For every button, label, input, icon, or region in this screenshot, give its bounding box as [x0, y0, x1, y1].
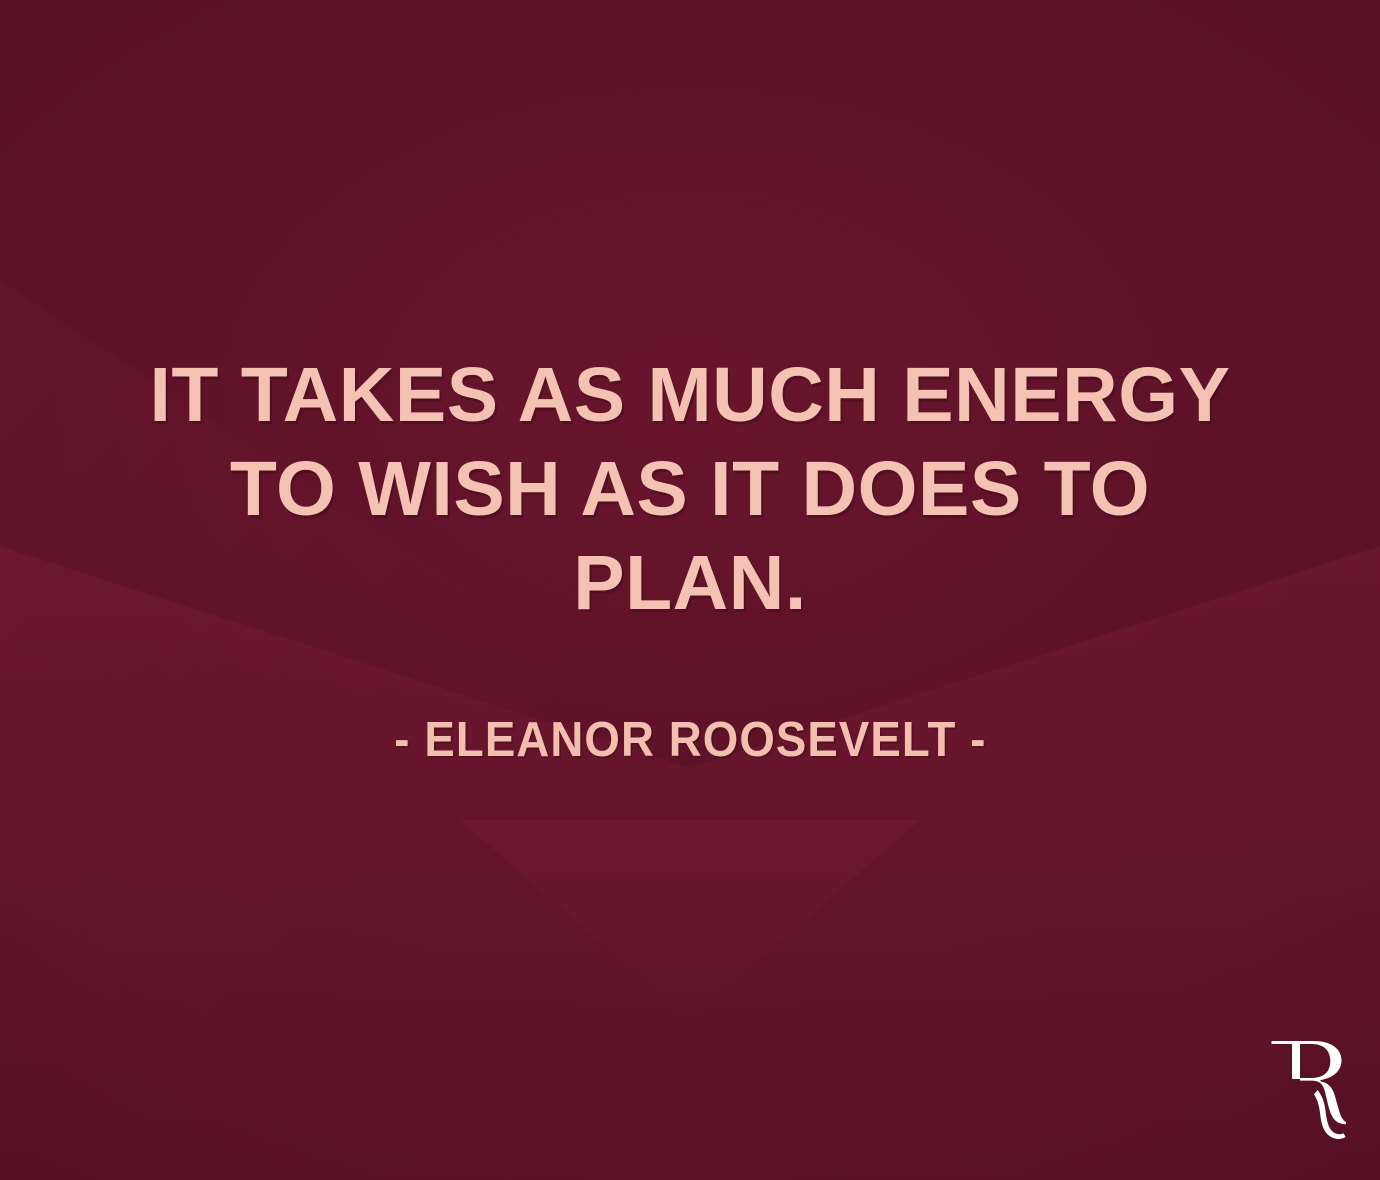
- quote-line-2: TO WISH AS IT DOES TO: [230, 446, 1150, 532]
- quote-line-3: PLAN.: [573, 540, 807, 626]
- quote-attribution: - ELEANOR ROOSEVELT -: [394, 712, 986, 768]
- quote-text: IT TAKES AS MUCH ENERGY TO WISH AS IT DO…: [70, 348, 1310, 630]
- card-content: IT TAKES AS MUCH ENERGY TO WISH AS IT DO…: [0, 0, 1380, 1180]
- quote-line-1: IT TAKES AS MUCH ENERGY: [149, 352, 1230, 438]
- quote-card: IT TAKES AS MUCH ENERGY TO WISH AS IT DO…: [0, 0, 1380, 1180]
- r-monogram-logo-icon: [1270, 1034, 1348, 1144]
